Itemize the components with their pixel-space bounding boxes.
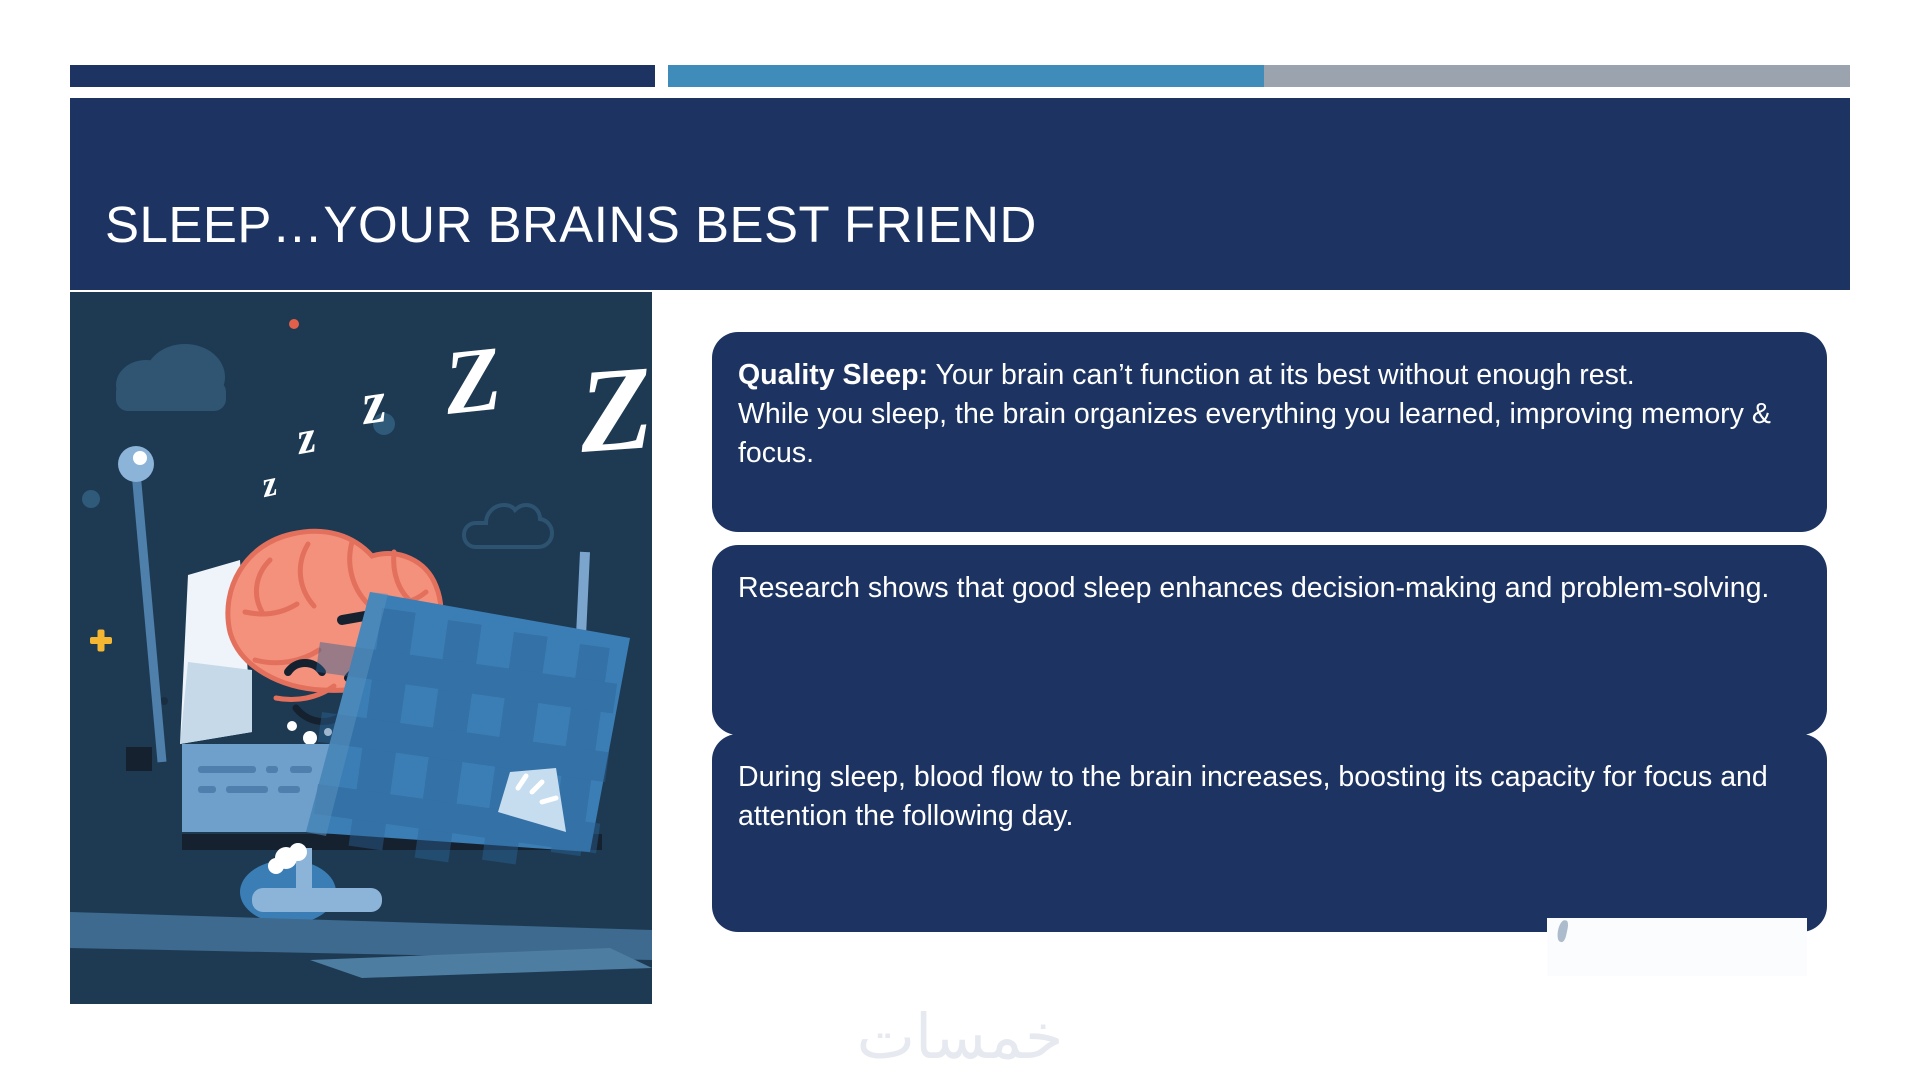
page-title: SLEEP…YOUR BRAINS BEST FRIEND xyxy=(105,195,1037,254)
accent-bar-blue xyxy=(668,65,1266,87)
accent-bar-navy xyxy=(70,65,655,87)
content-box-text: Your brain can’t function at its best wi… xyxy=(928,359,1635,391)
svg-text:Z: Z xyxy=(574,340,652,478)
dot-red-icon xyxy=(289,319,299,329)
accent-bar-gray xyxy=(1264,65,1850,87)
content-box-line: While you sleep, the brain organizes eve… xyxy=(738,395,1801,473)
content-box-blood-flow: During sleep, blood flow to the brain in… xyxy=(712,734,1827,932)
content-box-lead: Quality Sleep: xyxy=(738,359,928,391)
illustration-svg: z z z Z Z xyxy=(70,292,652,1004)
content-box-text: Research shows that good sleep enhances … xyxy=(738,569,1801,608)
title-band xyxy=(70,98,1850,290)
sleeping-brain-illustration: z z z Z Z xyxy=(70,292,652,1004)
dot-blue-small-icon xyxy=(82,490,100,508)
background-artifact xyxy=(1547,918,1807,976)
content-box-line: Quality Sleep: Your brain can’t function… xyxy=(738,356,1801,395)
svg-text:Z: Z xyxy=(438,327,506,434)
pillow-shadow xyxy=(180,662,252,744)
content-box-text: During sleep, blood flow to the brain in… xyxy=(738,758,1801,836)
slide-canvas: SLEEP…YOUR BRAINS BEST FRIEND xyxy=(0,0,1920,1080)
content-box-quality-sleep: Quality Sleep: Your brain can’t function… xyxy=(712,332,1827,532)
content-box-research: Research shows that good sleep enhances … xyxy=(712,545,1827,735)
watermark: خمسات xyxy=(0,1000,1920,1073)
